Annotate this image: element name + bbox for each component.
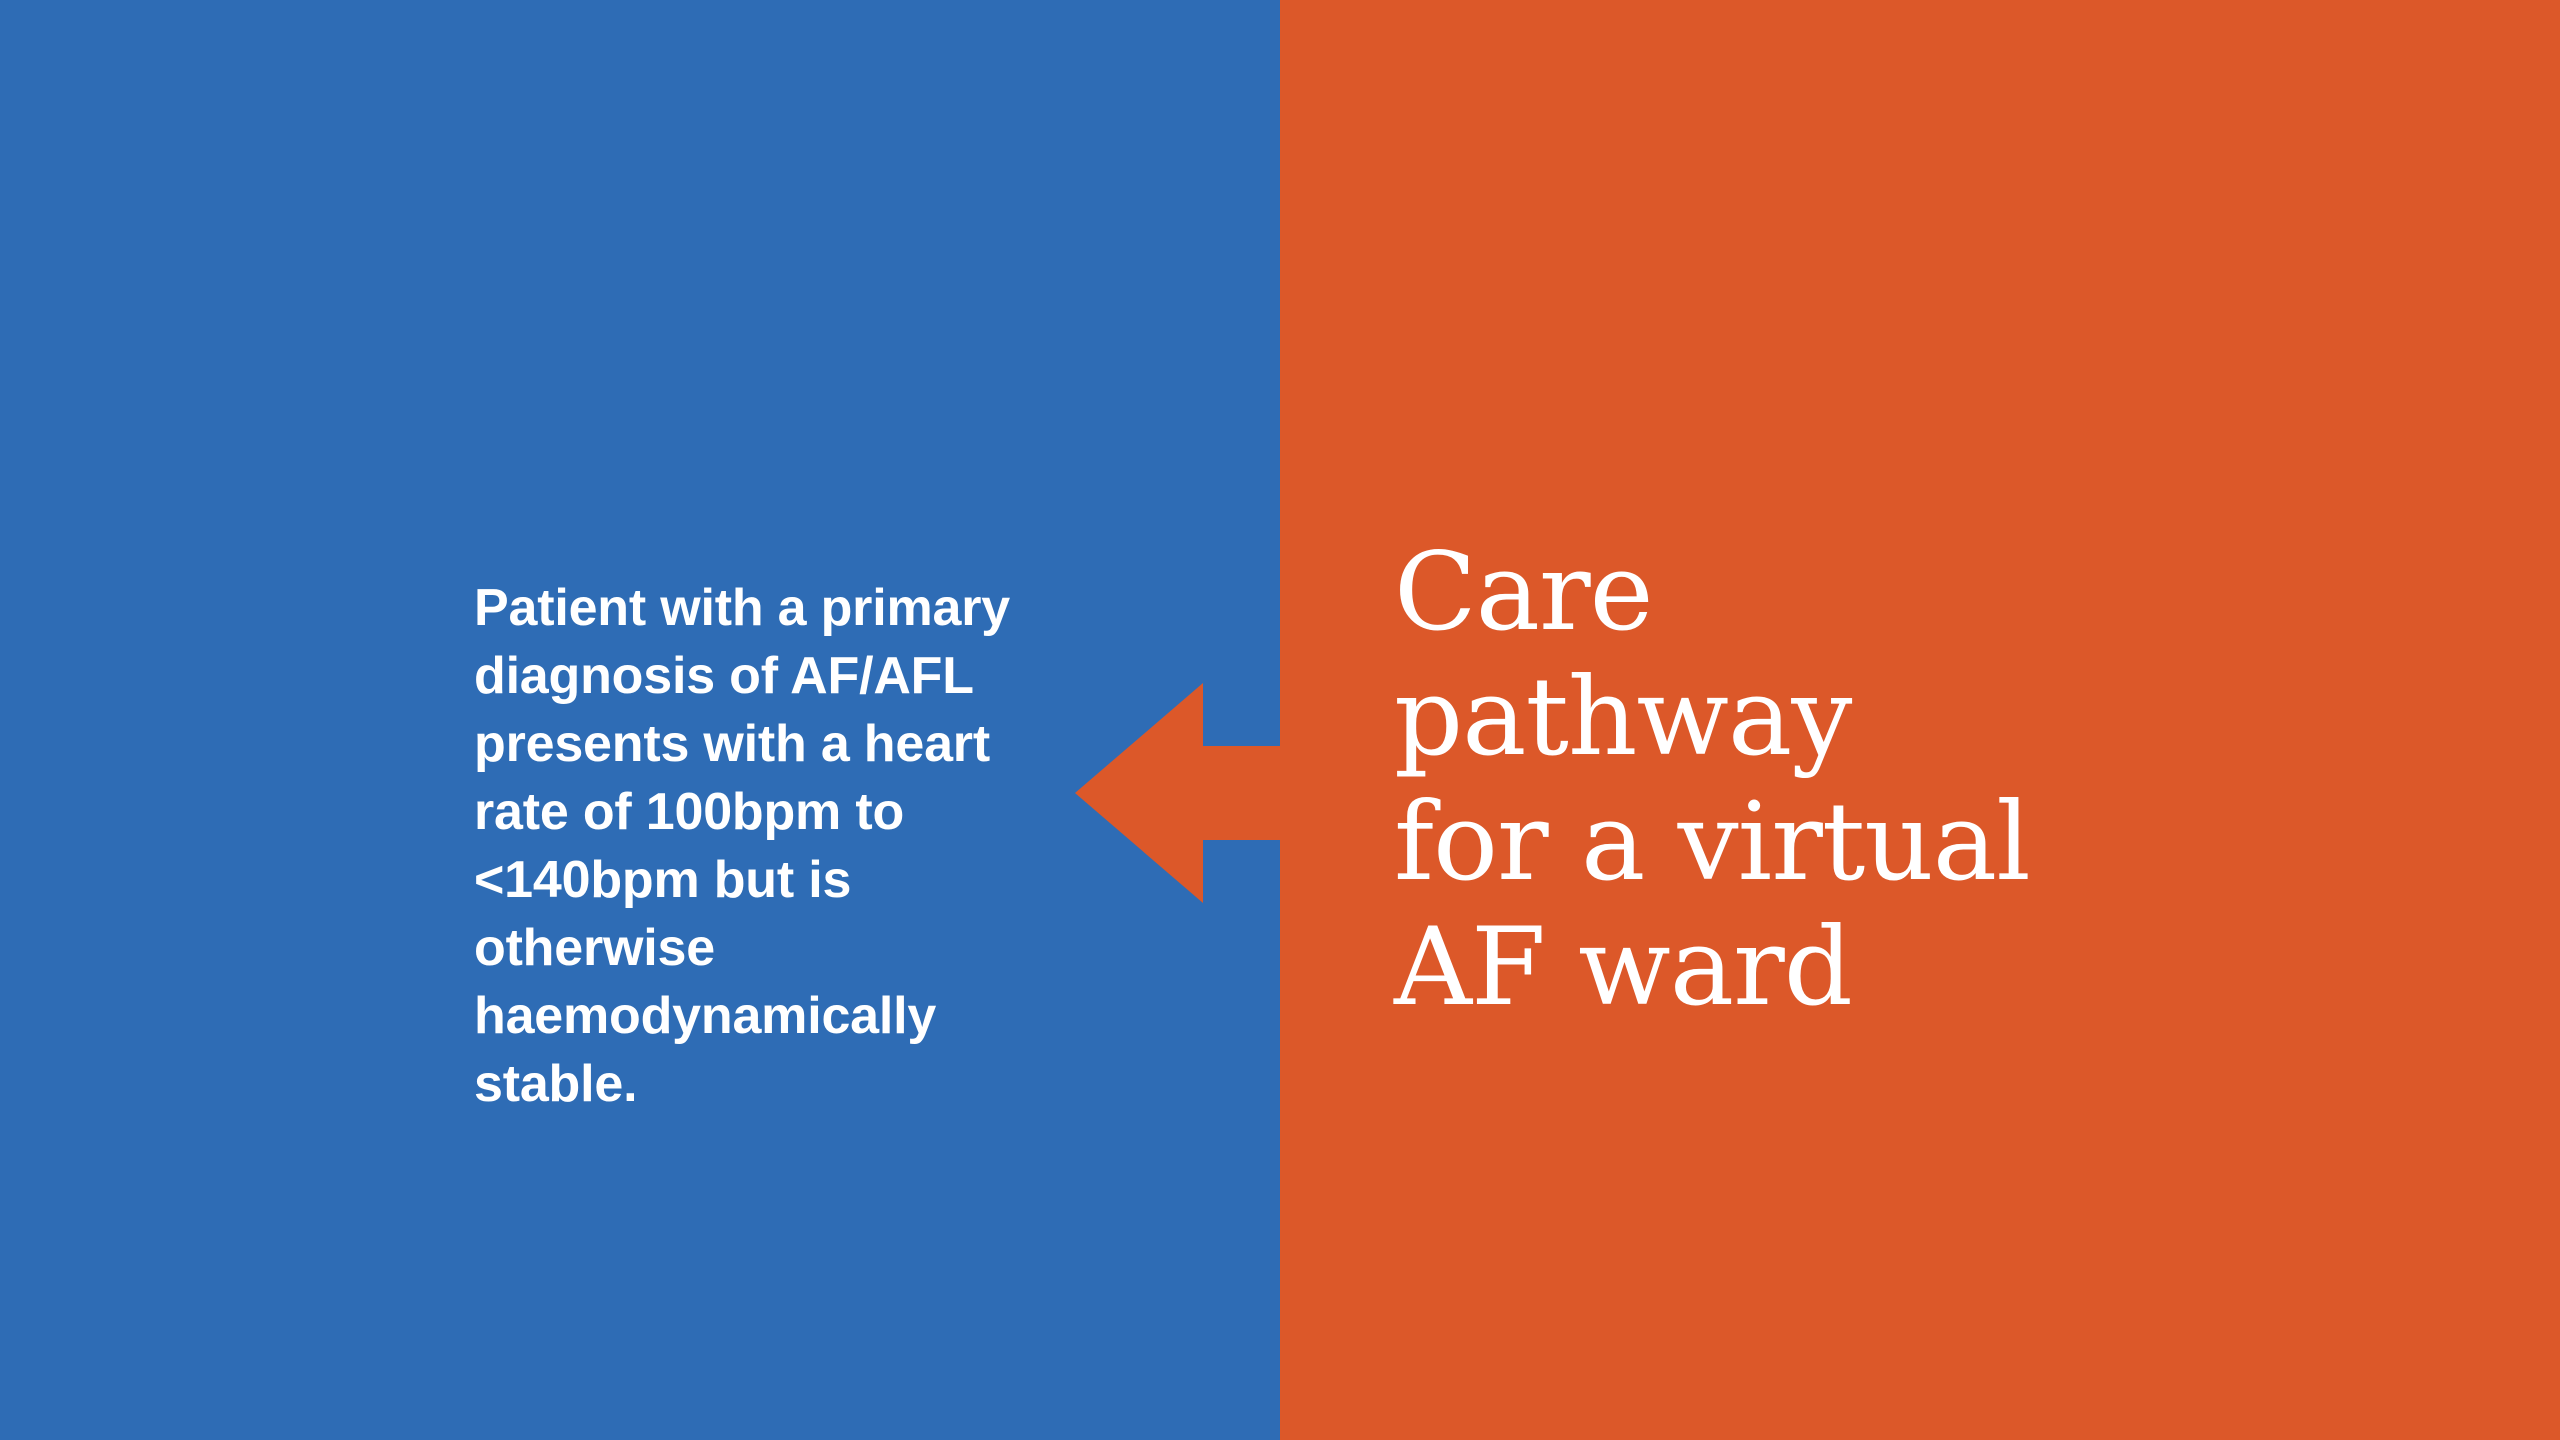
slide-canvas: Patient with a primary diagnosis of AF/A… — [0, 0, 2560, 1440]
patient-criteria-text: Patient with a primary diagnosis of AF/A… — [474, 574, 1074, 1118]
page-title: Care pathway for a virtual AF ward — [1394, 530, 2034, 1030]
